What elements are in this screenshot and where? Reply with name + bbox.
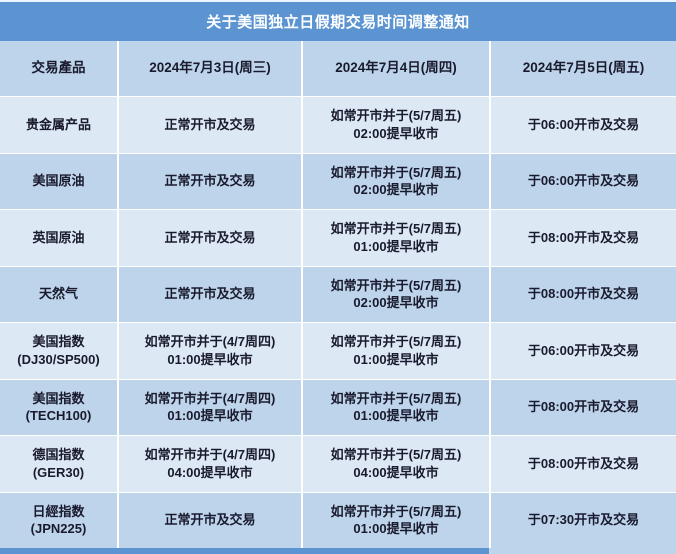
day2-line1: 如常开市并于(5/7周五) [331,220,462,238]
day1-line1: 如常开市并于(4/7周四) [145,446,276,464]
cell-day2: 如常开市并于(5/7周五) 01:00提早收市 [301,493,489,549]
day2-line1: 如常开市并于(5/7周五) [331,446,462,464]
cell-day1: 正常开市及交易 [117,154,301,210]
day1-line1: 正常开市及交易 [164,285,255,303]
product-name: 美国指数 [32,333,84,351]
product-code: (DJ30/SP500) [17,351,99,369]
cell-day1: 正常开市及交易 [117,97,301,153]
day2-line1: 如常开市并于(5/7周五) [331,107,462,125]
day2-line2: 04:00提早收市 [353,464,438,482]
day1-line1: 正常开市及交易 [164,172,255,190]
table-row: 美国指数 (TECH100) 如常开市并于(4/7周四) 01:00提早收市 如… [0,379,676,436]
product-code: (TECH100) [26,407,92,425]
cell-day1: 正常开市及交易 [117,493,301,549]
day2-line2: 02:00提早收市 [353,181,438,199]
day2-line2: 01:00提早收市 [353,351,438,369]
cell-day2: 如常开市并于(5/7周五) 04:00提早收市 [301,436,489,492]
day2-line1: 如常开市并于(5/7周五) [331,277,462,295]
day1-line1: 正常开市及交易 [164,116,255,134]
day1-line1: 正常开市及交易 [164,229,255,247]
column-header-day1: 2024年7月3日(周三) [117,41,301,96]
day3-line1: 于08:00开市及交易 [528,455,639,473]
cell-product: 英国原油 [0,210,117,266]
cell-product: 日經指数 (JPN225) [0,493,117,549]
cell-day1: 正常开市及交易 [117,267,301,323]
day2-line2: 02:00提早收市 [353,125,438,143]
day2-line2: 01:00提早收市 [353,407,438,425]
cell-day3: 于06:00开市及交易 [489,97,676,153]
cell-day3: 于08:00开市及交易 [489,436,676,492]
cell-product: 天然气 [0,267,117,323]
footer-accent-fill [0,548,489,554]
product-name: 英国原油 [32,229,84,247]
cell-day2: 如常开市并于(5/7周五) 02:00提早收市 [301,97,489,153]
day3-line1: 于08:00开市及交易 [528,285,639,303]
table-row: 日經指数 (JPN225) 正常开市及交易 如常开市并于(5/7周五) 01:0… [0,492,676,549]
day2-line1: 如常开市并于(5/7周五) [331,390,462,408]
cell-day1: 正常开市及交易 [117,210,301,266]
cell-day2: 如常开市并于(5/7周五) 01:00提早收市 [301,380,489,436]
day2-line1: 如常开市并于(5/7周五) [331,333,462,351]
cell-product: 贵金属产品 [0,97,117,153]
cell-day2: 如常开市并于(5/7周五) 01:00提早收市 [301,210,489,266]
day1-line1: 正常开市及交易 [164,511,255,529]
cell-product: 德国指数 (GER30) [0,436,117,492]
product-name: 美国原油 [32,172,84,190]
day1-line1: 如常开市并于(4/7周四) [145,390,276,408]
product-name: 贵金属产品 [26,116,91,134]
table-row: 美国指数 (DJ30/SP500) 如常开市并于(4/7周四) 01:00提早收… [0,322,676,379]
cell-day3: 于06:00开市及交易 [489,323,676,379]
day1-line2: 01:00提早收市 [167,351,252,369]
footer-accent-bar [0,548,676,554]
table-row: 天然气 正常开市及交易 如常开市并于(5/7周五) 02:00提早收市 于08:… [0,266,676,323]
cell-day3: 于08:00开市及交易 [489,267,676,323]
cell-product: 美国原油 [0,154,117,210]
day1-line1: 如常开市并于(4/7周四) [145,333,276,351]
cell-day1: 如常开市并于(4/7周四) 01:00提早收市 [117,323,301,379]
cell-day2: 如常开市并于(5/7周五) 02:00提早收市 [301,267,489,323]
product-name: 德国指数 [32,446,84,464]
day2-line1: 如常开市并于(5/7周五) [331,164,462,182]
table-row: 英国原油 正常开市及交易 如常开市并于(5/7周五) 01:00提早收市 于08… [0,209,676,266]
footer-accent-remainder [489,548,676,554]
day3-line1: 于06:00开市及交易 [528,116,639,134]
cell-day1: 如常开市并于(4/7周四) 04:00提早收市 [117,436,301,492]
product-name: 美国指数 [32,390,84,408]
notice-title: 关于美国独立日假期交易时间调整通知 [0,2,676,41]
column-header-day2: 2024年7月4日(周四) [301,41,489,96]
column-header-product: 交易產品 [0,41,117,96]
day2-line1: 如常开市并于(5/7周五) [331,503,462,521]
day3-line1: 于07:30开市及交易 [528,511,639,529]
column-header-day3: 2024年7月5日(周五) [489,41,676,96]
cell-product: 美国指数 (TECH100) [0,380,117,436]
day1-line2: 01:00提早收市 [167,407,252,425]
cell-day3: 于06:00开市及交易 [489,154,676,210]
product-name: 天然气 [39,285,78,303]
day2-line2: 01:00提早收市 [353,238,438,256]
cell-day1: 如常开市并于(4/7周四) 01:00提早收市 [117,380,301,436]
table-row: 贵金属产品 正常开市及交易 如常开市并于(5/7周五) 02:00提早收市 于0… [0,96,676,153]
cell-day3: 于08:00开市及交易 [489,210,676,266]
day3-line1: 于06:00开市及交易 [528,172,639,190]
trading-hours-notice-table: 关于美国独立日假期交易时间调整通知 交易產品 2024年7月3日(周三) 202… [0,0,676,554]
day2-line2: 02:00提早收市 [353,294,438,312]
product-name: 日經指数 [32,503,84,521]
day1-line2: 04:00提早收市 [167,464,252,482]
product-code: (GER30) [33,464,84,482]
day2-line2: 01:00提早收市 [353,520,438,538]
table-row: 德国指数 (GER30) 如常开市并于(4/7周四) 04:00提早收市 如常开… [0,435,676,492]
day3-line1: 于08:00开市及交易 [528,229,639,247]
cell-day2: 如常开市并于(5/7周五) 02:00提早收市 [301,154,489,210]
day3-line1: 于08:00开市及交易 [528,398,639,416]
product-code: (JPN225) [31,520,87,538]
cell-day3: 于07:30开市及交易 [489,493,676,549]
table-header-row: 交易產品 2024年7月3日(周三) 2024年7月4日(周四) 2024年7月… [0,41,676,96]
cell-day3: 于08:00开市及交易 [489,380,676,436]
cell-day2: 如常开市并于(5/7周五) 01:00提早收市 [301,323,489,379]
cell-product: 美国指数 (DJ30/SP500) [0,323,117,379]
table-row: 美国原油 正常开市及交易 如常开市并于(5/7周五) 02:00提早收市 于06… [0,153,676,210]
day3-line1: 于06:00开市及交易 [528,342,639,360]
